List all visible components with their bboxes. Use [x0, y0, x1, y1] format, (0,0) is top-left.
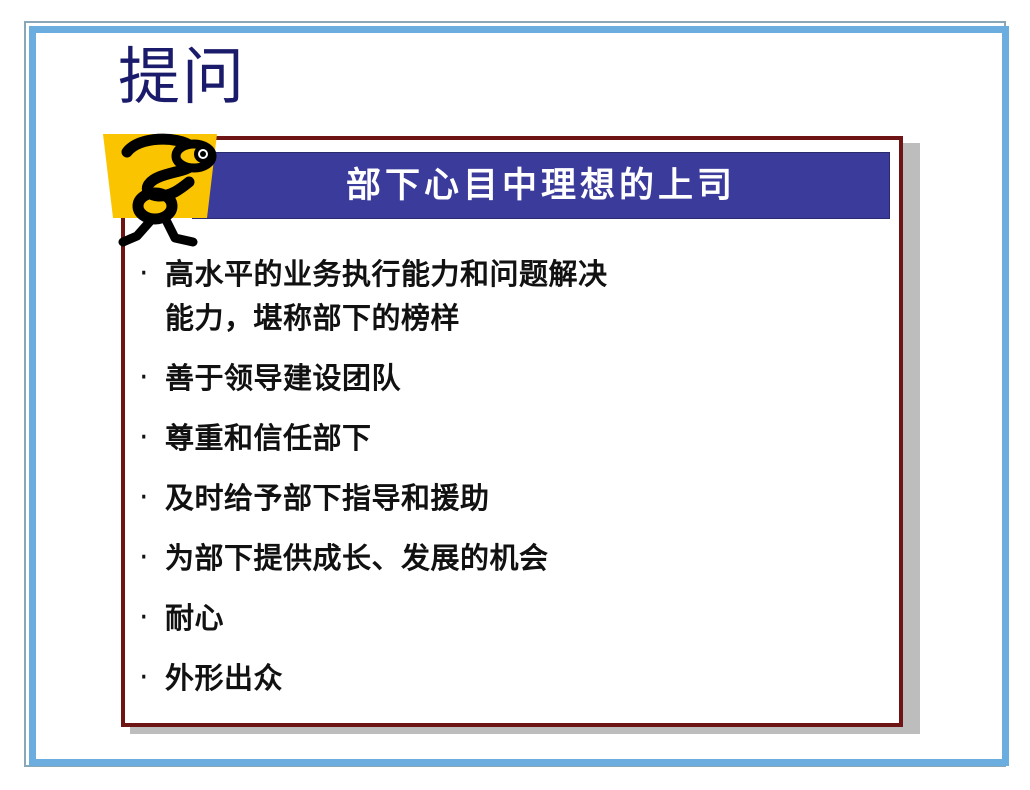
- page-title: 提问: [118, 41, 246, 113]
- bullet-marker-icon: ·: [139, 416, 165, 460]
- list-item-label: 高水平的业务执行能力和问题解决 能力，堪称部下的榜样: [165, 252, 879, 340]
- list-item-label: 耐心: [165, 596, 879, 640]
- walking-question-mark-figure-icon: [99, 130, 221, 252]
- section-heading-banner: 部下心目中理想的上司: [192, 152, 890, 219]
- list-item-label: 及时给予部下指导和援助: [165, 476, 879, 520]
- list-item: · 善于领导建设团队: [139, 356, 879, 400]
- list-item: · 高水平的业务执行能力和问题解决 能力，堪称部下的榜样: [139, 252, 879, 340]
- list-item-label: 善于领导建设团队: [165, 356, 879, 400]
- list-item: · 为部下提供成长、发展的机会: [139, 536, 879, 580]
- bullet-marker-icon: ·: [139, 536, 165, 580]
- bullet-marker-icon: ·: [139, 596, 165, 640]
- bullet-marker-icon: ·: [139, 476, 165, 520]
- bullet-marker-icon: ·: [139, 656, 165, 700]
- list-item-label: 尊重和信任部下: [165, 416, 879, 460]
- slide-canvas: 提问 部下心目中理想的上司 · 高水平的业务执行能力和问题解决 能力，堪称部: [0, 0, 1030, 790]
- list-item-label: 为部下提供成长、发展的机会: [165, 536, 879, 580]
- list-item: · 耐心: [139, 596, 879, 640]
- list-item: · 外形出众: [139, 656, 879, 700]
- bullet-marker-icon: ·: [139, 252, 165, 296]
- section-heading-text: 部下心目中理想的上司: [346, 166, 736, 206]
- bullet-list: · 高水平的业务执行能力和问题解决 能力，堪称部下的榜样 · 善于领导建设团队 …: [139, 252, 879, 716]
- list-item-label: 外形出众: [165, 656, 879, 700]
- bullet-marker-icon: ·: [139, 356, 165, 400]
- list-item: · 尊重和信任部下: [139, 416, 879, 460]
- list-item: · 及时给予部下指导和援助: [139, 476, 879, 520]
